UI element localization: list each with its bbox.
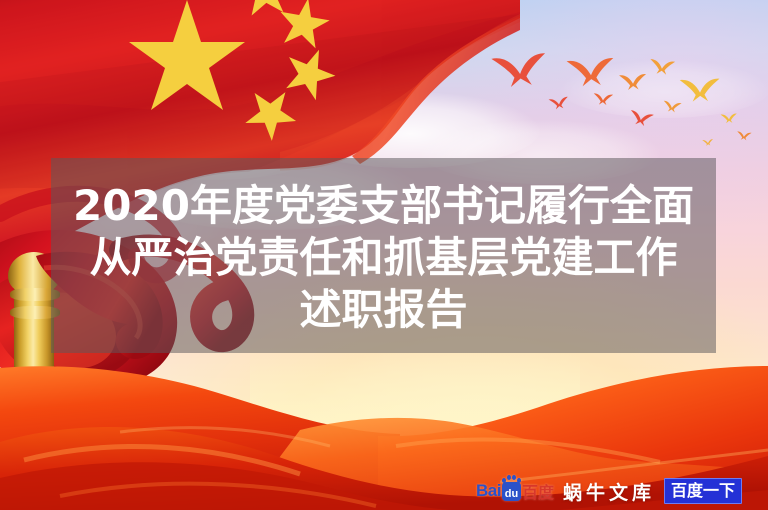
baidu-logo-chinese: 百度	[522, 479, 554, 503]
watermark-bar: Bai du 百度 蜗牛文库 百度一下	[476, 478, 742, 504]
flying-doves	[480, 35, 768, 165]
baidu-search-button[interactable]: 百度一下	[664, 478, 742, 504]
baidu-logo-du: du	[505, 488, 518, 501]
title-line-3: 述职报告	[299, 284, 467, 336]
paw-toes-icon	[502, 475, 521, 484]
title-line-2: 从严治党责任和抓基层党建工作	[89, 232, 677, 284]
poster-canvas: 2020年度党委支部书记履行全面 从严治党责任和抓基层党建工作 述职报告 Bai…	[0, 0, 768, 510]
baidu-paw-icon: du	[502, 482, 521, 501]
site-brand-label: 蜗牛文库	[563, 478, 655, 505]
title-line-1: 2020年度党委支部书记履行全面	[73, 180, 694, 232]
baidu-logo[interactable]: Bai du 百度	[476, 479, 554, 503]
document-title-overlay: 2020年度党委支部书记履行全面 从严治党责任和抓基层党建工作 述职报告	[51, 158, 716, 353]
baidu-logo-latin: Bai	[476, 481, 501, 501]
